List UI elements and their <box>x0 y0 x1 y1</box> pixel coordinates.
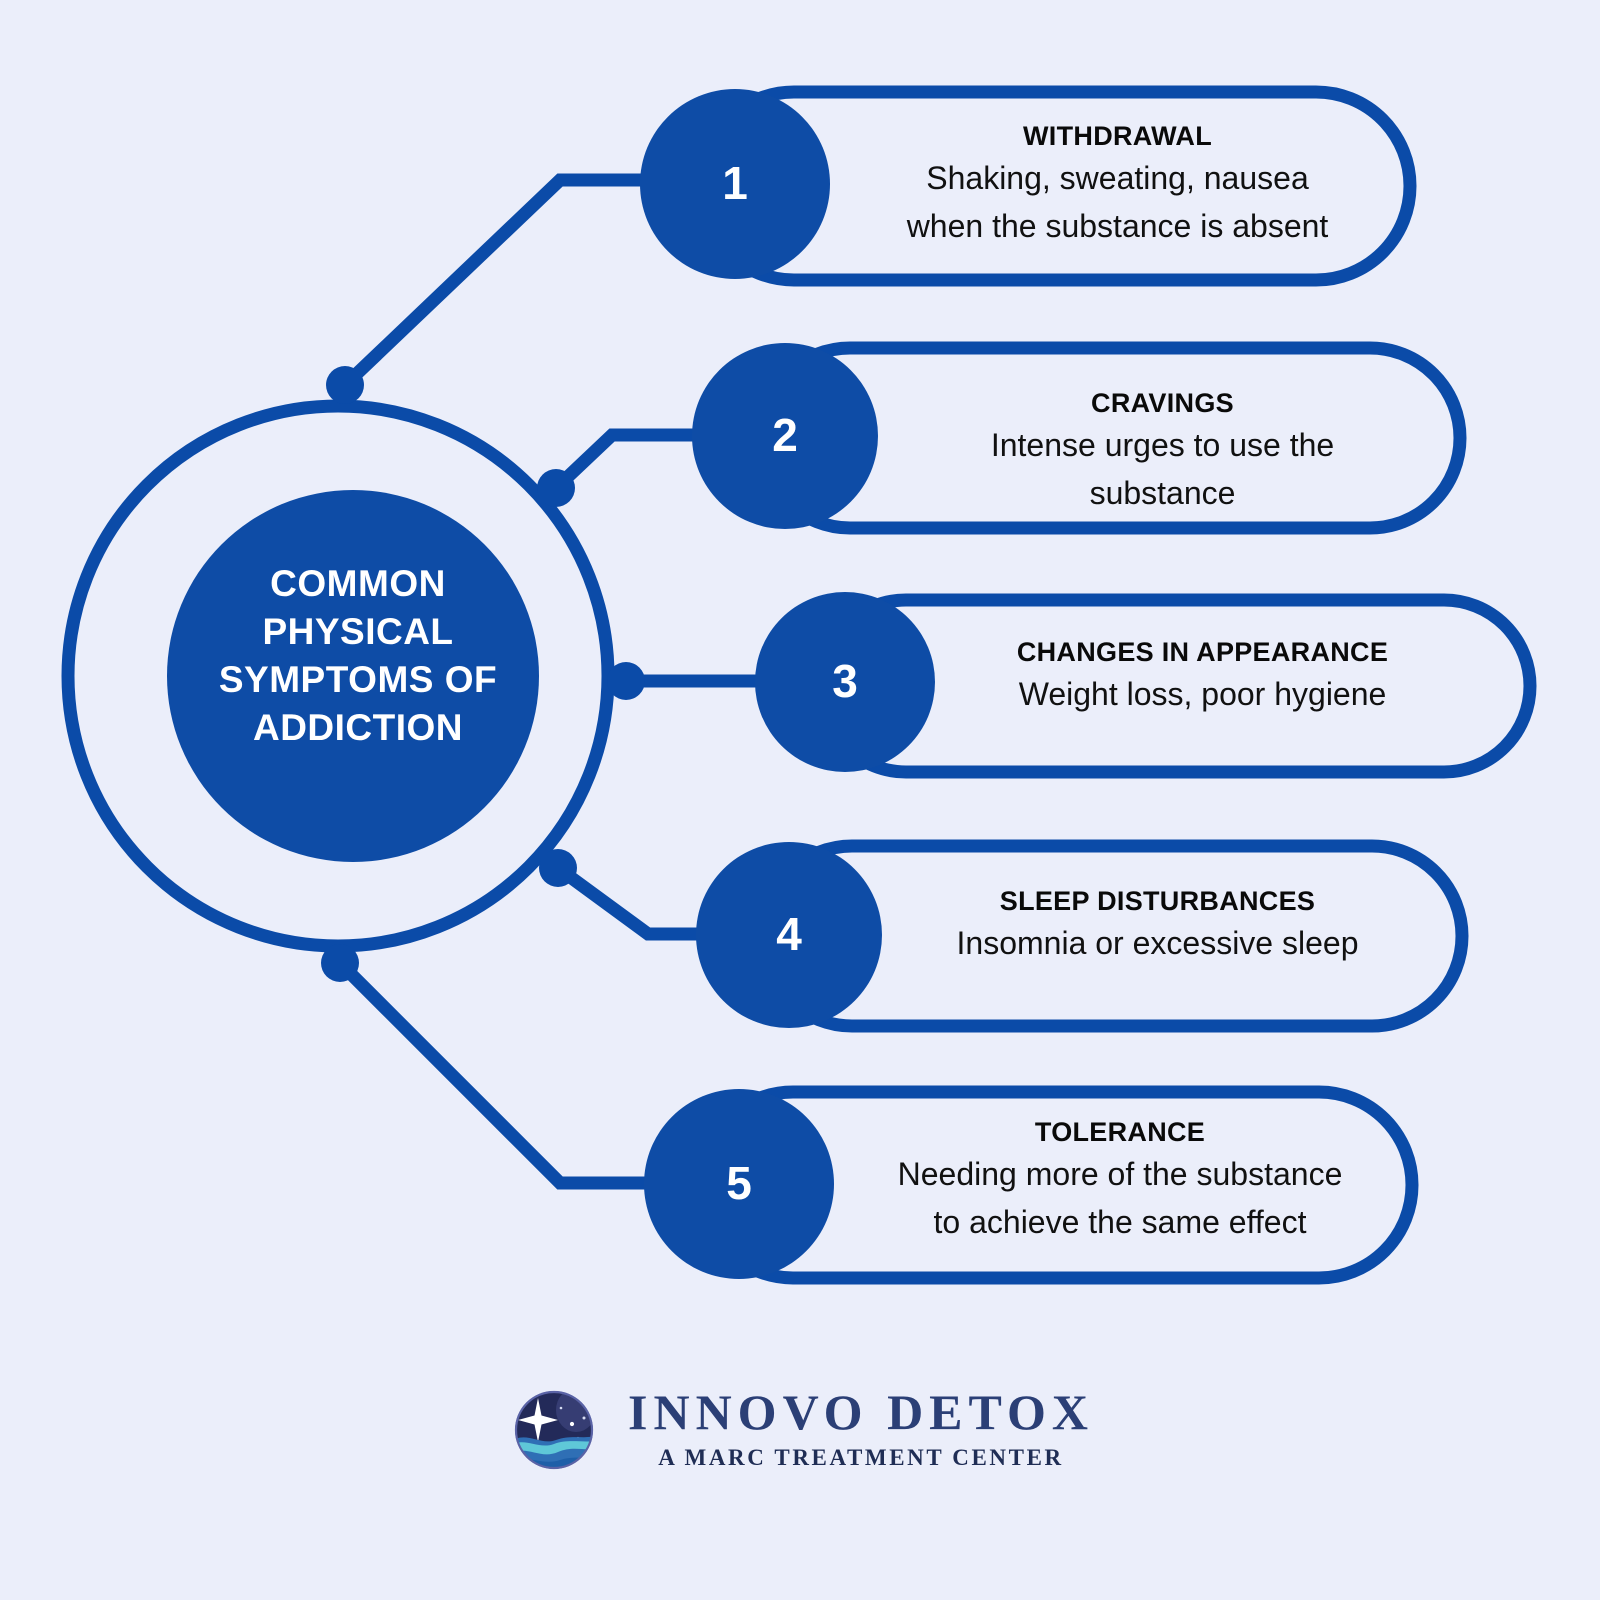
innovo-globe-star-wave-icon <box>506 1380 602 1476</box>
item-text-4: SLEEP DISTURBANCES Insomnia or excessive… <box>890 883 1425 967</box>
item-text-2: CRAVINGS Intense urges to use the substa… <box>890 385 1435 517</box>
item-description-1: Shaking, sweating, nausea when the subst… <box>845 154 1390 250</box>
item-title-2: CRAVINGS <box>890 385 1435 421</box>
item-text-3: CHANGES IN APPEARANCE Weight loss, poor … <box>935 634 1470 718</box>
item-number-4: 4 <box>759 911 819 957</box>
item-title-5: TOLERANCE <box>845 1114 1395 1150</box>
ring-node-3 <box>607 662 645 700</box>
item-text-5: TOLERANCE Needing more of the substance … <box>845 1114 1395 1246</box>
logo-brand-tagline: A MARC TREATMENT CENTER <box>658 1446 1064 1469</box>
logo-brand-name: INNOVO DETOX <box>628 1387 1094 1437</box>
item-text-1: WITHDRAWAL Shaking, sweating, nausea whe… <box>845 118 1390 250</box>
ring-node-4 <box>539 849 577 887</box>
item-number-3: 3 <box>815 658 875 704</box>
logo-wordmark: INNOVO DETOX A MARC TREATMENT CENTER <box>628 1387 1094 1469</box>
hub-title: COMMON PHYSICAL SYMPTOMS OF ADDICTION <box>148 560 568 752</box>
item-number-1: 1 <box>705 160 765 206</box>
item-description-5: Needing more of the substance to achieve… <box>845 1150 1395 1246</box>
item-description-2: Intense urges to use the substance <box>890 421 1435 517</box>
ring-node-2 <box>537 469 575 507</box>
item-number-2: 2 <box>755 412 815 458</box>
item-title-4: SLEEP DISTURBANCES <box>890 883 1425 919</box>
ring-node-1 <box>326 366 364 404</box>
infographic-canvas: COMMON PHYSICAL SYMPTOMS OF ADDICTION 1 … <box>0 0 1600 1600</box>
ring-node-5 <box>321 944 359 982</box>
item-number-5: 5 <box>709 1160 769 1206</box>
item-title-3: CHANGES IN APPEARANCE <box>935 634 1470 670</box>
item-title-1: WITHDRAWAL <box>845 118 1390 154</box>
item-description-3: Weight loss, poor hygiene <box>935 670 1470 718</box>
footer-logo[interactable]: INNOVO DETOX A MARC TREATMENT CENTER <box>0 1380 1600 1476</box>
item-description-4: Insomnia or excessive sleep <box>890 919 1425 967</box>
